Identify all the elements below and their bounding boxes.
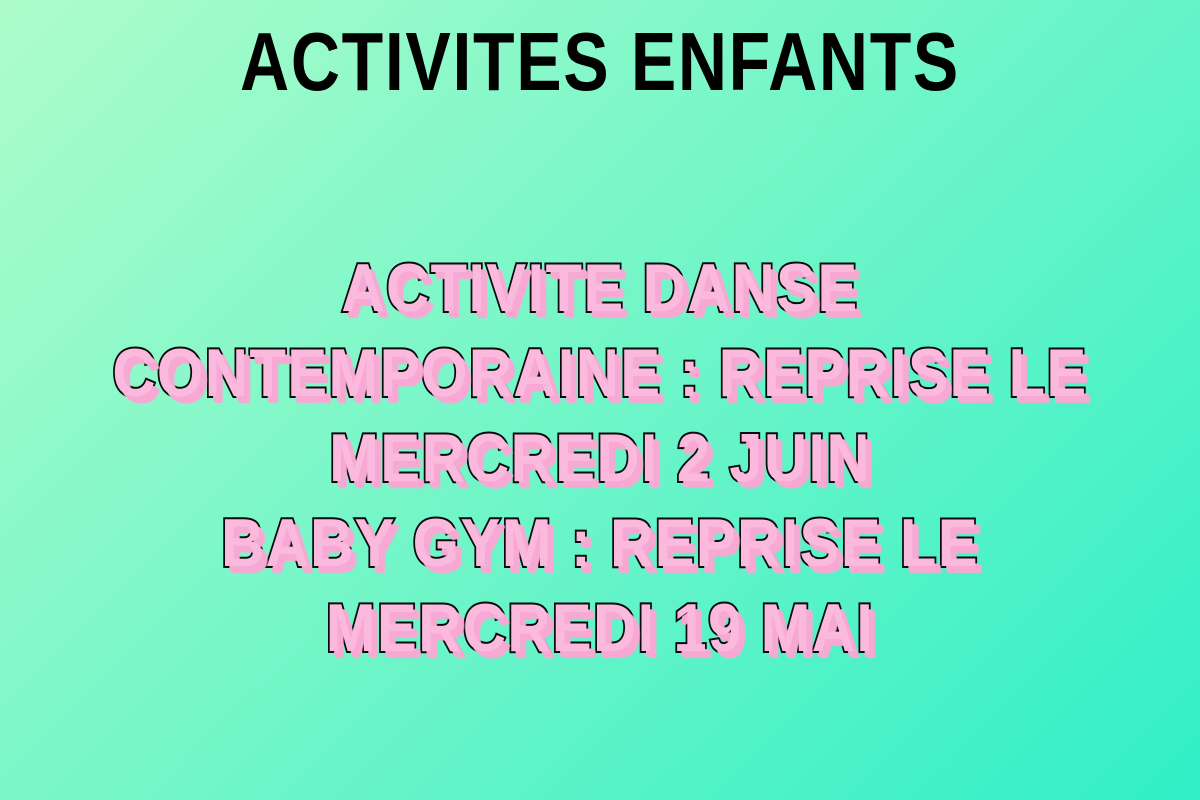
announcement-line-2: CONTEMPORAINE : REPRISE LE <box>72 331 1128 416</box>
announcement-line-3: MERCREDI 2 JUIN <box>72 416 1128 501</box>
announcement-text-block: ACTIVITE DANSE CONTEMPORAINE : REPRISE L… <box>0 246 1200 671</box>
page-title: ACTIVITES ENFANTS <box>108 20 1092 104</box>
announcement-line-4: BABY GYM : REPRISE LE <box>72 501 1128 586</box>
announcement-line-5: MERCREDI 19 MAI <box>72 586 1128 671</box>
poster-canvas: ACTIVITES ENFANTS ACTIVITE DANSE CONTEMP… <box>0 0 1200 800</box>
poster-header: ACTIVITES ENFANTS <box>0 20 1200 104</box>
announcement-line-1: ACTIVITE DANSE <box>72 246 1128 331</box>
